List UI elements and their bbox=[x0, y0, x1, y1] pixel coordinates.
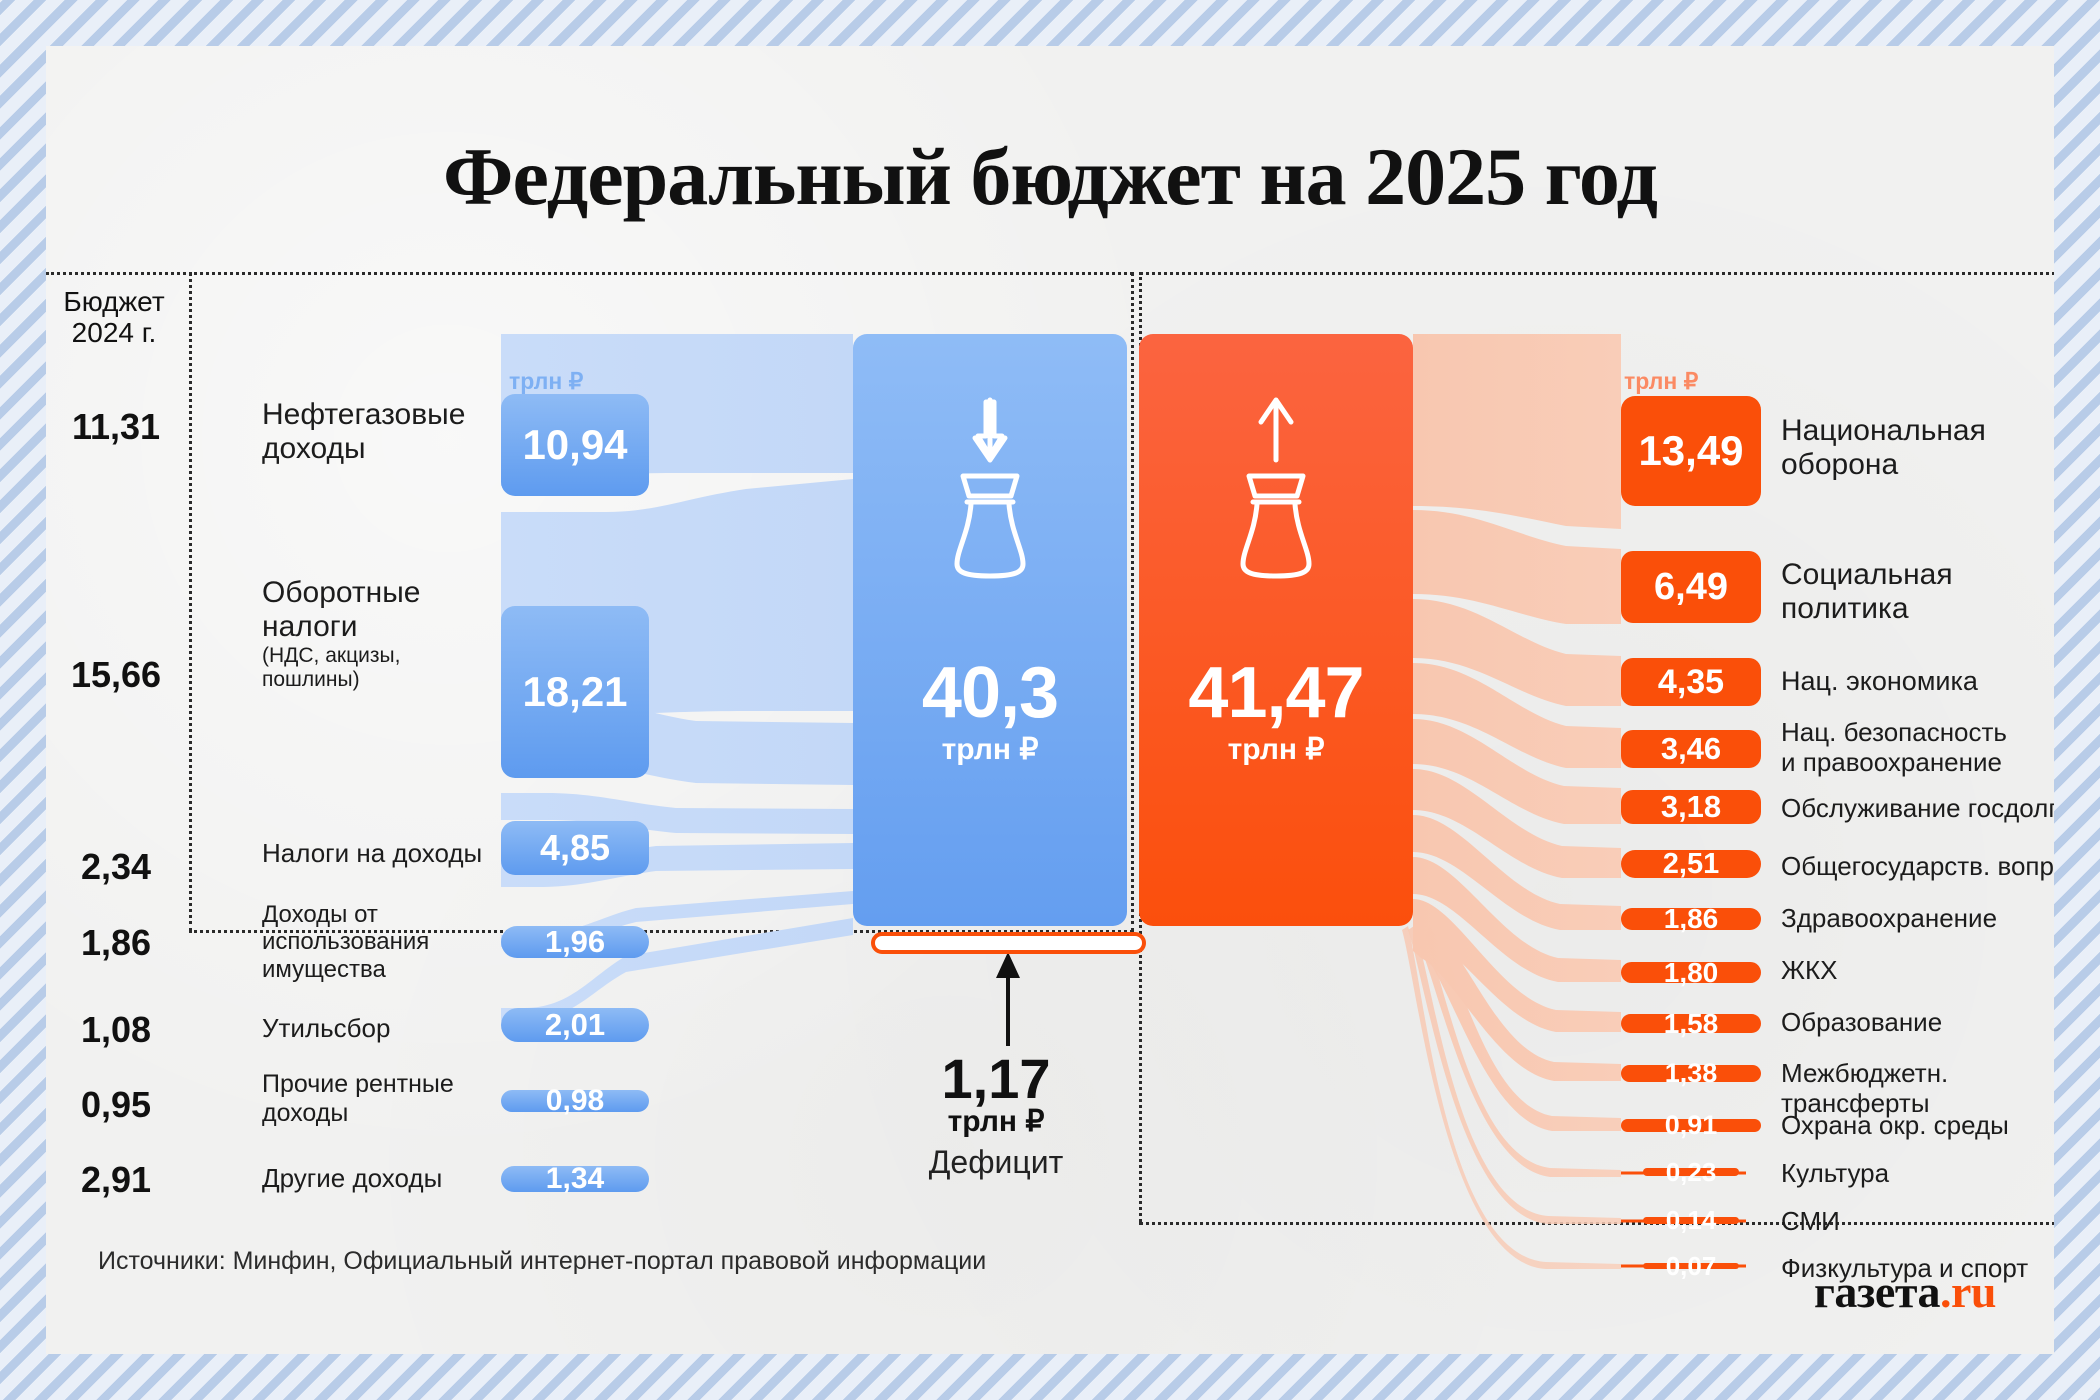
income-chip-other-income: 1,34 bbox=[501, 1166, 649, 1192]
deficit-bar bbox=[871, 932, 1146, 954]
income-total-unit: трлн ₽ bbox=[853, 732, 1127, 767]
income-total-value: 40,3 bbox=[853, 652, 1127, 734]
income-chip-other-rent-income: 0,98 bbox=[501, 1090, 649, 1112]
logo-dot: . bbox=[1940, 1266, 1951, 1317]
budget-2024-column: Бюджет 2024 г. bbox=[46, 286, 186, 349]
income-label-other-rent-income: Прочие рентные доходы bbox=[262, 1070, 492, 1127]
expense-chip-sports: 0,07 bbox=[1643, 1263, 1739, 1269]
expense-label-general-government: Общегосударств. вопросы bbox=[1781, 852, 2054, 882]
expense-chip-healthcare: 1,86 bbox=[1621, 908, 1761, 930]
expense-ribbons bbox=[1402, 334, 1621, 1269]
expense-chip-national-security: 3,46 bbox=[1621, 730, 1761, 768]
income-label-oil-gas: Нефтегазовые доходы bbox=[262, 398, 502, 466]
expense-chip-defense: 13,49 bbox=[1621, 396, 1761, 506]
sources-note: Источники: Минфин, Официальный интернет-… bbox=[98, 1247, 986, 1276]
expense-label-defense: Национальная оборона bbox=[1781, 414, 2054, 482]
expense-unit-caption: трлн ₽ bbox=[1624, 368, 1698, 395]
expense-total-column: 41,47 трлн ₽ bbox=[1139, 334, 1413, 926]
budget-2024-header-line1: Бюджет bbox=[46, 286, 182, 317]
income-label-property-income: Доходы от использования имущества bbox=[262, 901, 492, 983]
prev-value-other-rent-income: 0,95 bbox=[46, 1084, 186, 1126]
income-chip-oil-gas: 10,94 bbox=[501, 394, 649, 496]
expense-label-debt-service: Обслуживание госдолга bbox=[1781, 794, 2054, 824]
expense-label-culture: Культура bbox=[1781, 1159, 2054, 1189]
expense-chip-general-government: 2,51 bbox=[1621, 850, 1761, 878]
expense-total-unit: трлн ₽ bbox=[1139, 732, 1413, 767]
prev-value-turnover-taxes: 15,66 bbox=[46, 654, 186, 696]
income-label-recycling-fee: Утильсбор bbox=[262, 1014, 492, 1044]
prev-value-oil-gas: 11,31 bbox=[46, 406, 186, 448]
prev-value-other-income: 2,91 bbox=[46, 1159, 186, 1201]
logo-main-text: газета bbox=[1814, 1266, 1940, 1317]
income-chip-income-taxes: 4,85 bbox=[501, 821, 649, 875]
infographic-canvas: Федеральный бюджет на 2025 год bbox=[46, 46, 2054, 1354]
income-label-turnover-taxes: Оборотные налоги (НДС, акцизы, пошлины) bbox=[262, 576, 512, 692]
logo-tld: ru bbox=[1951, 1266, 1996, 1317]
expense-chip-housing-utilities: 1,80 bbox=[1621, 962, 1761, 983]
budget-2024-header-line2: 2024 г. bbox=[46, 317, 182, 348]
prev-value-recycling-fee: 1,08 bbox=[46, 1009, 186, 1051]
deficit-unit: трлн ₽ bbox=[846, 1104, 1146, 1139]
expense-label-education: Образование bbox=[1781, 1008, 2054, 1038]
expense-label-healthcare: Здравоохранение bbox=[1781, 904, 2054, 934]
expense-chip-interbudget-transfers: 1,38 bbox=[1621, 1065, 1761, 1082]
expense-chip-media: 0,14 bbox=[1643, 1217, 1739, 1224]
prev-value-property-income: 1,86 bbox=[46, 922, 186, 964]
expense-total-value: 41,47 bbox=[1139, 652, 1413, 734]
deficit-value: 1,17 bbox=[846, 1046, 1146, 1111]
income-label-income-taxes: Налоги на доходы bbox=[262, 839, 522, 869]
expense-chip-social-policy: 6,49 bbox=[1621, 551, 1761, 623]
expense-label-media: СМИ bbox=[1781, 1207, 2054, 1237]
expense-chip-debt-service: 3,18 bbox=[1621, 790, 1761, 824]
expense-label-national-security: Нац. безопасность и правоохранение bbox=[1781, 718, 2054, 777]
expense-chip-culture: 0,23 bbox=[1643, 1168, 1739, 1176]
budget-2024-header: Бюджет 2024 г. bbox=[46, 286, 186, 349]
income-chip-recycling-fee: 2,01 bbox=[501, 1008, 649, 1042]
expense-chip-environment: 0,91 bbox=[1621, 1119, 1761, 1132]
income-chip-turnover-taxes: 18,21 bbox=[501, 606, 649, 778]
prev-value-income-taxes: 2,34 bbox=[46, 846, 186, 888]
arrow-up-out-of-jar-icon bbox=[1139, 384, 1413, 584]
deficit-label: Дефицит bbox=[846, 1144, 1146, 1181]
expense-label-social-policy: Социальная политика bbox=[1781, 558, 2054, 626]
deficit-arrow-icon bbox=[996, 952, 1020, 1046]
expense-chip-national-economy: 4,35 bbox=[1621, 658, 1761, 706]
income-unit-caption: трлн ₽ bbox=[509, 368, 583, 395]
arrow-down-into-jar-icon bbox=[853, 384, 1127, 584]
expense-label-environment: Охрана окр. среды bbox=[1781, 1111, 2054, 1141]
income-label-other-income: Другие доходы bbox=[262, 1164, 502, 1194]
income-chip-property-income: 1,96 bbox=[501, 926, 649, 958]
expense-label-national-economy: Нац. экономика bbox=[1781, 666, 2054, 697]
expense-label-housing-utilities: ЖКХ bbox=[1781, 956, 2054, 986]
gazeta-ru-logo[interactable]: газета.ru bbox=[1814, 1265, 1996, 1318]
expense-chip-education: 1,58 bbox=[1621, 1014, 1761, 1033]
income-total-column: 40,3 трлн ₽ bbox=[853, 334, 1127, 926]
